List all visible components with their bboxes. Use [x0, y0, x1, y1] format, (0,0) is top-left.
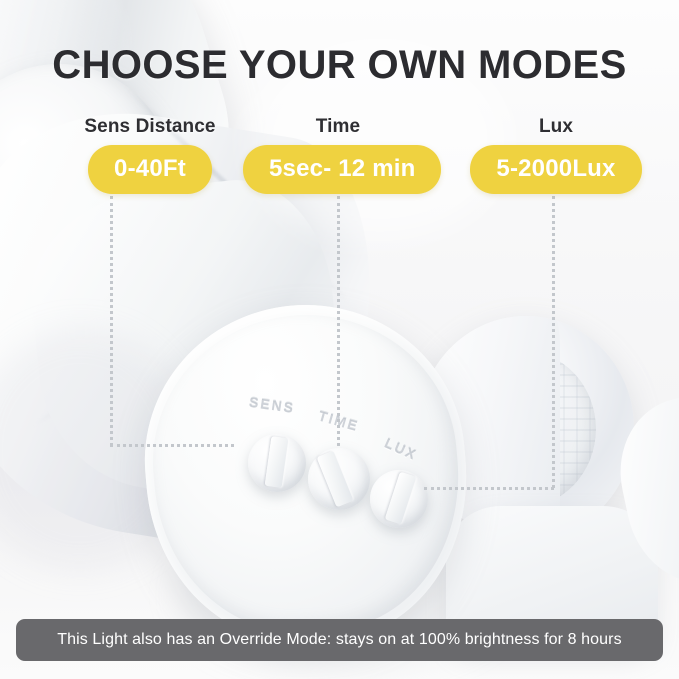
faceplate-rim — [141, 302, 471, 643]
product-photo-backdrop: SENS TIME LUX — [0, 0, 679, 679]
spec-label-lux: Lux — [456, 116, 656, 138]
spec-column-lux: Lux 5-2000Lux — [456, 116, 656, 194]
sens-distance-dial[interactable] — [248, 434, 306, 492]
spec-label-time: Time — [243, 116, 433, 138]
spec-column-sens-distance: Sens Distance 0-40Ft — [25, 116, 275, 194]
time-dial[interactable] — [308, 448, 370, 510]
page-title: CHOOSE YOUR OWN MODES — [0, 41, 679, 89]
dial-slot-icon — [265, 436, 289, 488]
override-mode-note: This Light also has an Override Mode: st… — [16, 619, 663, 661]
product-feature-graphic: SENS TIME LUX CHOOSE YOUR OWN MODES Sens… — [0, 0, 679, 679]
spec-badge-sens-distance: 0-40Ft — [88, 145, 212, 194]
spec-badge-lux: 5-2000Lux — [470, 145, 641, 194]
spec-label-sens-distance: Sens Distance — [25, 116, 275, 138]
dial-slot-icon — [317, 451, 354, 508]
spec-badge-time: 5sec- 12 min — [243, 145, 441, 194]
lux-dial[interactable] — [370, 470, 428, 528]
spec-column-time: Time 5sec- 12 min — [243, 116, 433, 194]
dial-slot-icon — [385, 472, 417, 525]
